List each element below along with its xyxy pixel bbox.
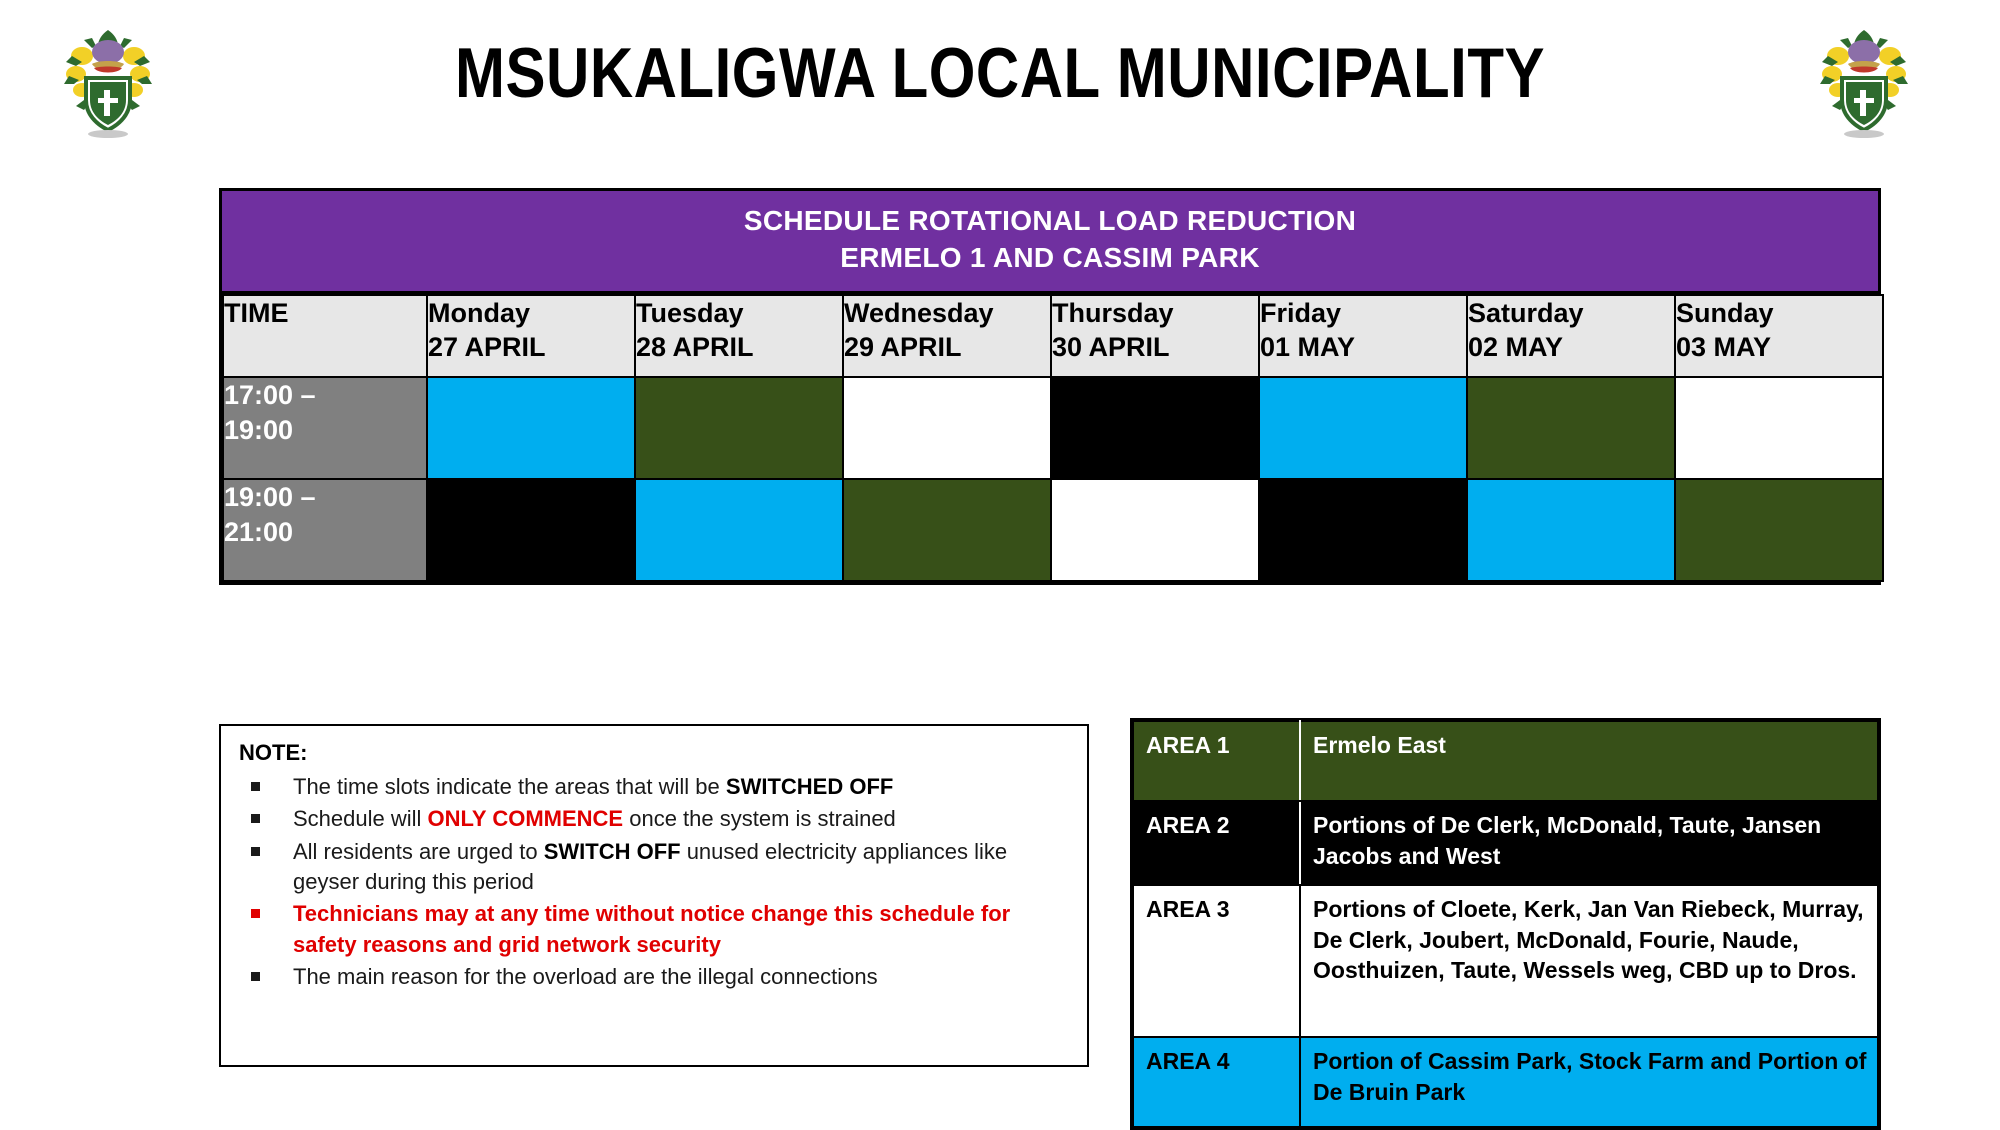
day-date: 30 APRIL [1052, 330, 1258, 365]
schedule-slot-row: 17:00 – 19:00 [223, 377, 1883, 479]
day-date: 27 APRIL [428, 330, 634, 365]
schedule-cell [427, 377, 635, 479]
area-row-3: AREA 3 Portions of Cloete, Kerk, Jan Van… [1133, 885, 1878, 1037]
page-header: MSUKALIGWA LOCAL MUNICIPALITY [0, 0, 2000, 155]
note-text: Schedule will [293, 806, 428, 831]
day-date: 28 APRIL [636, 330, 842, 365]
note-text: ONLY COMMENCE [428, 806, 624, 831]
day-name: Thursday [1052, 298, 1174, 328]
note-item: Schedule will ONLY COMMENCE once the sys… [237, 804, 1071, 834]
schedule-cell [427, 479, 635, 581]
time-to: 19:00 [224, 413, 426, 448]
bullet-icon [251, 909, 260, 918]
bullet-icon [251, 972, 260, 981]
note-text: All residents are urged to [293, 839, 544, 864]
time-from: 17:00 – [224, 380, 316, 410]
schedule-cell [1675, 479, 1883, 581]
day-name: Sunday [1676, 298, 1774, 328]
note-text: SWITCH OFF [544, 839, 681, 864]
note-item: All residents are urged to SWITCH OFF un… [237, 837, 1071, 898]
bullet-icon [251, 847, 260, 856]
note-text: Technicians may at any time without noti… [293, 901, 1010, 956]
schedule-cell [635, 377, 843, 479]
area-label: AREA 1 [1133, 721, 1300, 801]
header-cell-wednesday: Wednesday 29 APRIL [843, 295, 1051, 377]
header-cell-time: TIME [223, 295, 427, 377]
time-to: 21:00 [224, 515, 426, 550]
area-row-2: AREA 2 Portions of De Clerk, McDonald, T… [1133, 801, 1878, 885]
day-name: Monday [428, 298, 530, 328]
schedule-cell [1467, 377, 1675, 479]
header-cell-monday: Monday 27 APRIL [427, 295, 635, 377]
note-item: The main reason for the overload are the… [237, 962, 1071, 992]
schedule-cell [1051, 377, 1259, 479]
area-description: Portions of De Clerk, McDonald, Taute, J… [1300, 801, 1878, 885]
municipality-coat-of-arms-right-icon [1818, 22, 1910, 142]
day-name: Tuesday [636, 298, 744, 328]
area-label: AREA 4 [1133, 1037, 1300, 1127]
area-row-4: AREA 4 Portion of Cassim Park, Stock Far… [1133, 1037, 1878, 1127]
schedule-cell [1259, 479, 1467, 581]
area-description: Portion of Cassim Park, Stock Farm and P… [1300, 1037, 1878, 1127]
bullet-icon [251, 814, 260, 823]
day-name: Wednesday [844, 298, 994, 328]
day-name: Friday [1260, 298, 1341, 328]
note-text: The time slots indicate the areas that w… [293, 774, 726, 799]
day-name: Saturday [1468, 298, 1584, 328]
schedule-cell [1467, 479, 1675, 581]
schedule-slot-row: 19:00 – 21:00 [223, 479, 1883, 581]
area-description: Portions of Cloete, Kerk, Jan Van Riebec… [1300, 885, 1878, 1037]
note-text: once the system is strained [623, 806, 896, 831]
schedule-header-row: TIME Monday 27 APRIL Tuesday 28 APRIL We… [223, 295, 1883, 377]
day-date: 02 MAY [1468, 330, 1674, 365]
page-title: MSUKALIGWA LOCAL MUNICIPALITY [0, 32, 2000, 113]
note-list: The time slots indicate the areas that w… [237, 772, 1071, 993]
header-cell-tuesday: Tuesday 28 APRIL [635, 295, 843, 377]
schedule-banner: SCHEDULE ROTATIONAL LOAD REDUCTION ERMEL… [222, 191, 1878, 294]
time-slot-label: 19:00 – 21:00 [223, 479, 427, 581]
schedule-banner-line2: ERMELO 1 AND CASSIM PARK [222, 240, 1878, 277]
note-item: Technicians may at any time without noti… [237, 899, 1071, 960]
area-legend-table: AREA 1 Ermelo East AREA 2 Portions of De… [1130, 718, 1881, 1130]
area-row-1: AREA 1 Ermelo East [1133, 721, 1878, 801]
note-box: NOTE: The time slots indicate the areas … [219, 724, 1089, 1067]
area-label: AREA 3 [1133, 885, 1300, 1037]
schedule-cell [635, 479, 843, 581]
area-label: AREA 2 [1133, 801, 1300, 885]
header-cell-friday: Friday 01 MAY [1259, 295, 1467, 377]
header-cell-saturday: Saturday 02 MAY [1467, 295, 1675, 377]
schedule-cell [843, 479, 1051, 581]
time-slot-label: 17:00 – 19:00 [223, 377, 427, 479]
day-date: 29 APRIL [844, 330, 1050, 365]
note-item: The time slots indicate the areas that w… [237, 772, 1071, 802]
schedule-cell [1675, 377, 1883, 479]
schedule-banner-line1: SCHEDULE ROTATIONAL LOAD REDUCTION [222, 203, 1878, 240]
header-cell-sunday: Sunday 03 MAY [1675, 295, 1883, 377]
bullet-icon [251, 782, 260, 791]
schedule-cell [843, 377, 1051, 479]
schedule-cell [1051, 479, 1259, 581]
note-text: The main reason for the overload are the… [293, 964, 878, 989]
load-reduction-schedule-table: SCHEDULE ROTATIONAL LOAD REDUCTION ERMEL… [219, 188, 1881, 585]
schedule-cell [1259, 377, 1467, 479]
time-from: 19:00 – [224, 482, 316, 512]
area-description: Ermelo East [1300, 721, 1878, 801]
header-cell-thursday: Thursday 30 APRIL [1051, 295, 1259, 377]
note-text: SWITCHED OFF [726, 774, 893, 799]
day-date: 03 MAY [1676, 330, 1882, 365]
note-title: NOTE: [239, 740, 1071, 766]
day-date: 01 MAY [1260, 330, 1466, 365]
